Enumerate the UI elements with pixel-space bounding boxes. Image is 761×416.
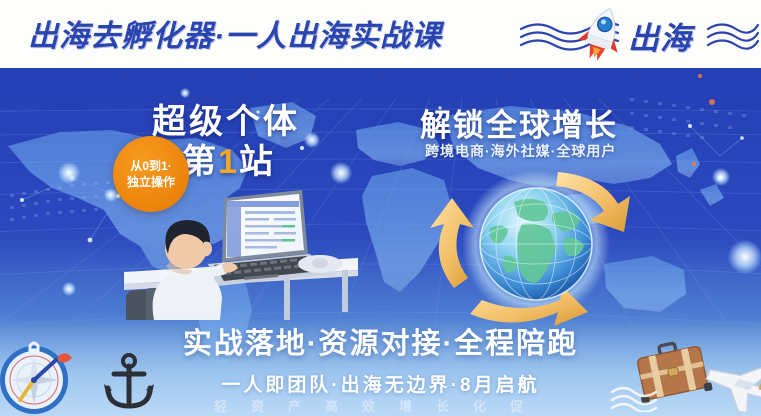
anchor-icon [100, 352, 158, 412]
logo-text: 出海 [628, 13, 692, 58]
wave-lines-icon [610, 386, 680, 412]
header-bar: 出海去孵化器·一人出海实战课 [0, 0, 761, 68]
badge-line-2: 独立操作 [127, 174, 175, 190]
page-title: 出海去孵化器·一人出海实战课 [28, 11, 442, 55]
hero-title-suffix: 站 [239, 143, 275, 181]
badge-line-1: 从0到1· [130, 158, 171, 174]
hero-title-left-line2: 第1站 [182, 134, 275, 183]
rocket-icon [578, 5, 626, 61]
promotional-banner: 超级个体 第1站 从0到1· 独立操作 解锁全球增长 跨境电商·海外社媒·全球用… [0, 0, 761, 416]
airplane-icon [702, 355, 761, 416]
brand-logo[interactable]: 出海 [520, 8, 755, 60]
hero-title-right: 解锁全球增长 [420, 100, 618, 145]
globe-with-arrows-illustration [418, 166, 654, 330]
hero-subtitle-right: 跨境电商·海外社媒·全球用户 [425, 141, 616, 161]
compass-icon [0, 334, 76, 416]
status-badge: 从0到1· 独立操作 [113, 136, 189, 212]
hero-title-number: 1 [218, 143, 239, 181]
wave-lines-icon [706, 22, 760, 52]
